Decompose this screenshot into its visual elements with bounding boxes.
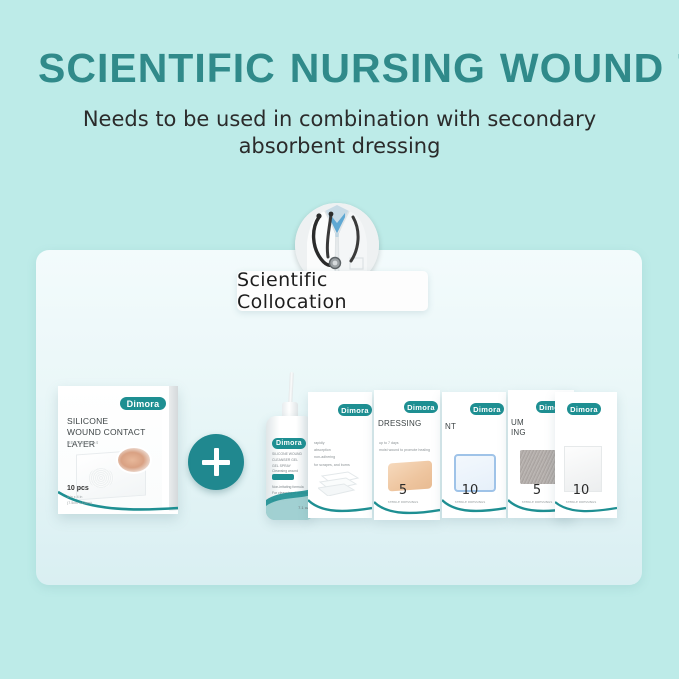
left-box-title-line-2: WOUND CONTACT LAYER bbox=[67, 427, 159, 450]
box-product-name: DRESSING bbox=[378, 419, 421, 429]
headline-word-3: WOUND bbox=[500, 45, 664, 91]
left-box-title-line-1: SILICONE bbox=[67, 416, 159, 427]
plus-icon bbox=[188, 434, 244, 490]
box-count-caption: STERILE DRESSINGS bbox=[374, 500, 432, 504]
left-box-title: SILICONE WOUND CONTACT LAYER bbox=[67, 416, 159, 450]
left-box-ref: REF 707-S1-4 bbox=[67, 440, 98, 445]
box-desc-1: rapidly bbox=[314, 440, 350, 447]
box-desc-lines: up to 7 days moist wound to promote heal… bbox=[379, 440, 430, 454]
left-box-count: 10 pcs bbox=[67, 485, 89, 492]
headline-word-2: NURSING bbox=[290, 45, 486, 91]
brand-badge: Dimora bbox=[404, 401, 438, 413]
gauze-stack-image bbox=[318, 470, 360, 496]
box-count-caption: STERILE DRESSINGS bbox=[442, 500, 498, 504]
row-product-box-5: Dimora 10 STERILE DRESSINGS bbox=[555, 392, 617, 518]
scientific-collocation-label: Scientific Collocation bbox=[237, 271, 428, 311]
brand-badge: Dimora bbox=[120, 397, 166, 410]
subtitle-line-1: Needs to be used in combination with sec… bbox=[0, 106, 679, 133]
bottle-teal-wave bbox=[266, 486, 314, 520]
wound-photo-inset bbox=[116, 446, 152, 474]
bottle-body: Dimora SILICONE WOUND CLEANSER GEL GEL S… bbox=[266, 416, 314, 520]
row-product-box-3: Dimora NT 10 STERILE DRESSINGS bbox=[442, 392, 506, 518]
left-product-box: Dimora SILICONE WOUND CONTACT LAYER REF … bbox=[58, 386, 178, 514]
box-desc-lines: rapidly absorption non-adhering for scra… bbox=[314, 440, 350, 469]
box-desc-3: non-adhering bbox=[314, 454, 350, 461]
row-product-box-2: Dimora DRESSING up to 7 days moist wound… bbox=[374, 390, 440, 520]
box-count-number: 10 bbox=[462, 483, 479, 498]
box-product-name-line-1: UM bbox=[511, 418, 526, 428]
box-count: 10 STERILE DRESSINGS bbox=[442, 479, 498, 504]
headline-word-1: SCIENTIFIC bbox=[38, 45, 276, 91]
box-count-number: 10 bbox=[573, 483, 590, 498]
collocation-label-text: Scientific Collocation bbox=[237, 269, 428, 313]
box-count: 5 STERILE DRESSINGS bbox=[374, 479, 432, 504]
row-product-box-1: Dimora rapidly absorption non-adhering f… bbox=[308, 392, 372, 518]
left-box-size-2: (7.5cm x 10cm) bbox=[67, 501, 92, 506]
bottle-label-text: SILICONE WOUND CLEANSER GEL GEL SPRAY Cl… bbox=[272, 452, 310, 475]
page-subtitle: Needs to be used in combination with sec… bbox=[0, 106, 679, 160]
box-desc-2: moist wound to promote healing bbox=[379, 447, 430, 454]
box-count-number: 5 bbox=[533, 483, 541, 498]
left-box-count-block: 10 pcs 3 in x 4 in (7.5cm x 10cm) bbox=[67, 477, 92, 506]
box-count-number: 5 bbox=[399, 483, 407, 498]
brand-badge: Dimora bbox=[338, 404, 372, 416]
page-headline: SCIENTIFICNURSINGWOUNDT bbox=[38, 48, 679, 89]
brand-badge: Dimora bbox=[272, 438, 306, 449]
brand-badge: Dimora bbox=[567, 403, 601, 415]
box-desc-1: up to 7 days bbox=[379, 440, 430, 447]
box-count: 10 STERILE DRESSINGS bbox=[555, 479, 607, 504]
subtitle-line-2: absorbent dressing bbox=[0, 133, 679, 160]
box-count-caption: STERILE DRESSINGS bbox=[555, 500, 607, 504]
box-product-name: UM ING bbox=[511, 418, 526, 439]
box-product-name: NT bbox=[445, 422, 456, 432]
box-desc-4: for scrapes, and burns bbox=[314, 462, 350, 469]
silicone-pad-perforations bbox=[88, 468, 114, 488]
bottle-accent-bar bbox=[272, 474, 294, 480]
left-box-side-panel bbox=[169, 386, 178, 514]
box-product-name-line-2: ING bbox=[511, 428, 526, 438]
brand-badge: Dimora bbox=[470, 403, 504, 415]
bottle-nozzle bbox=[288, 372, 294, 406]
bottle-line-1: SILICONE WOUND CLEANSER GEL bbox=[272, 452, 310, 464]
box-desc-2: absorption bbox=[314, 447, 350, 454]
